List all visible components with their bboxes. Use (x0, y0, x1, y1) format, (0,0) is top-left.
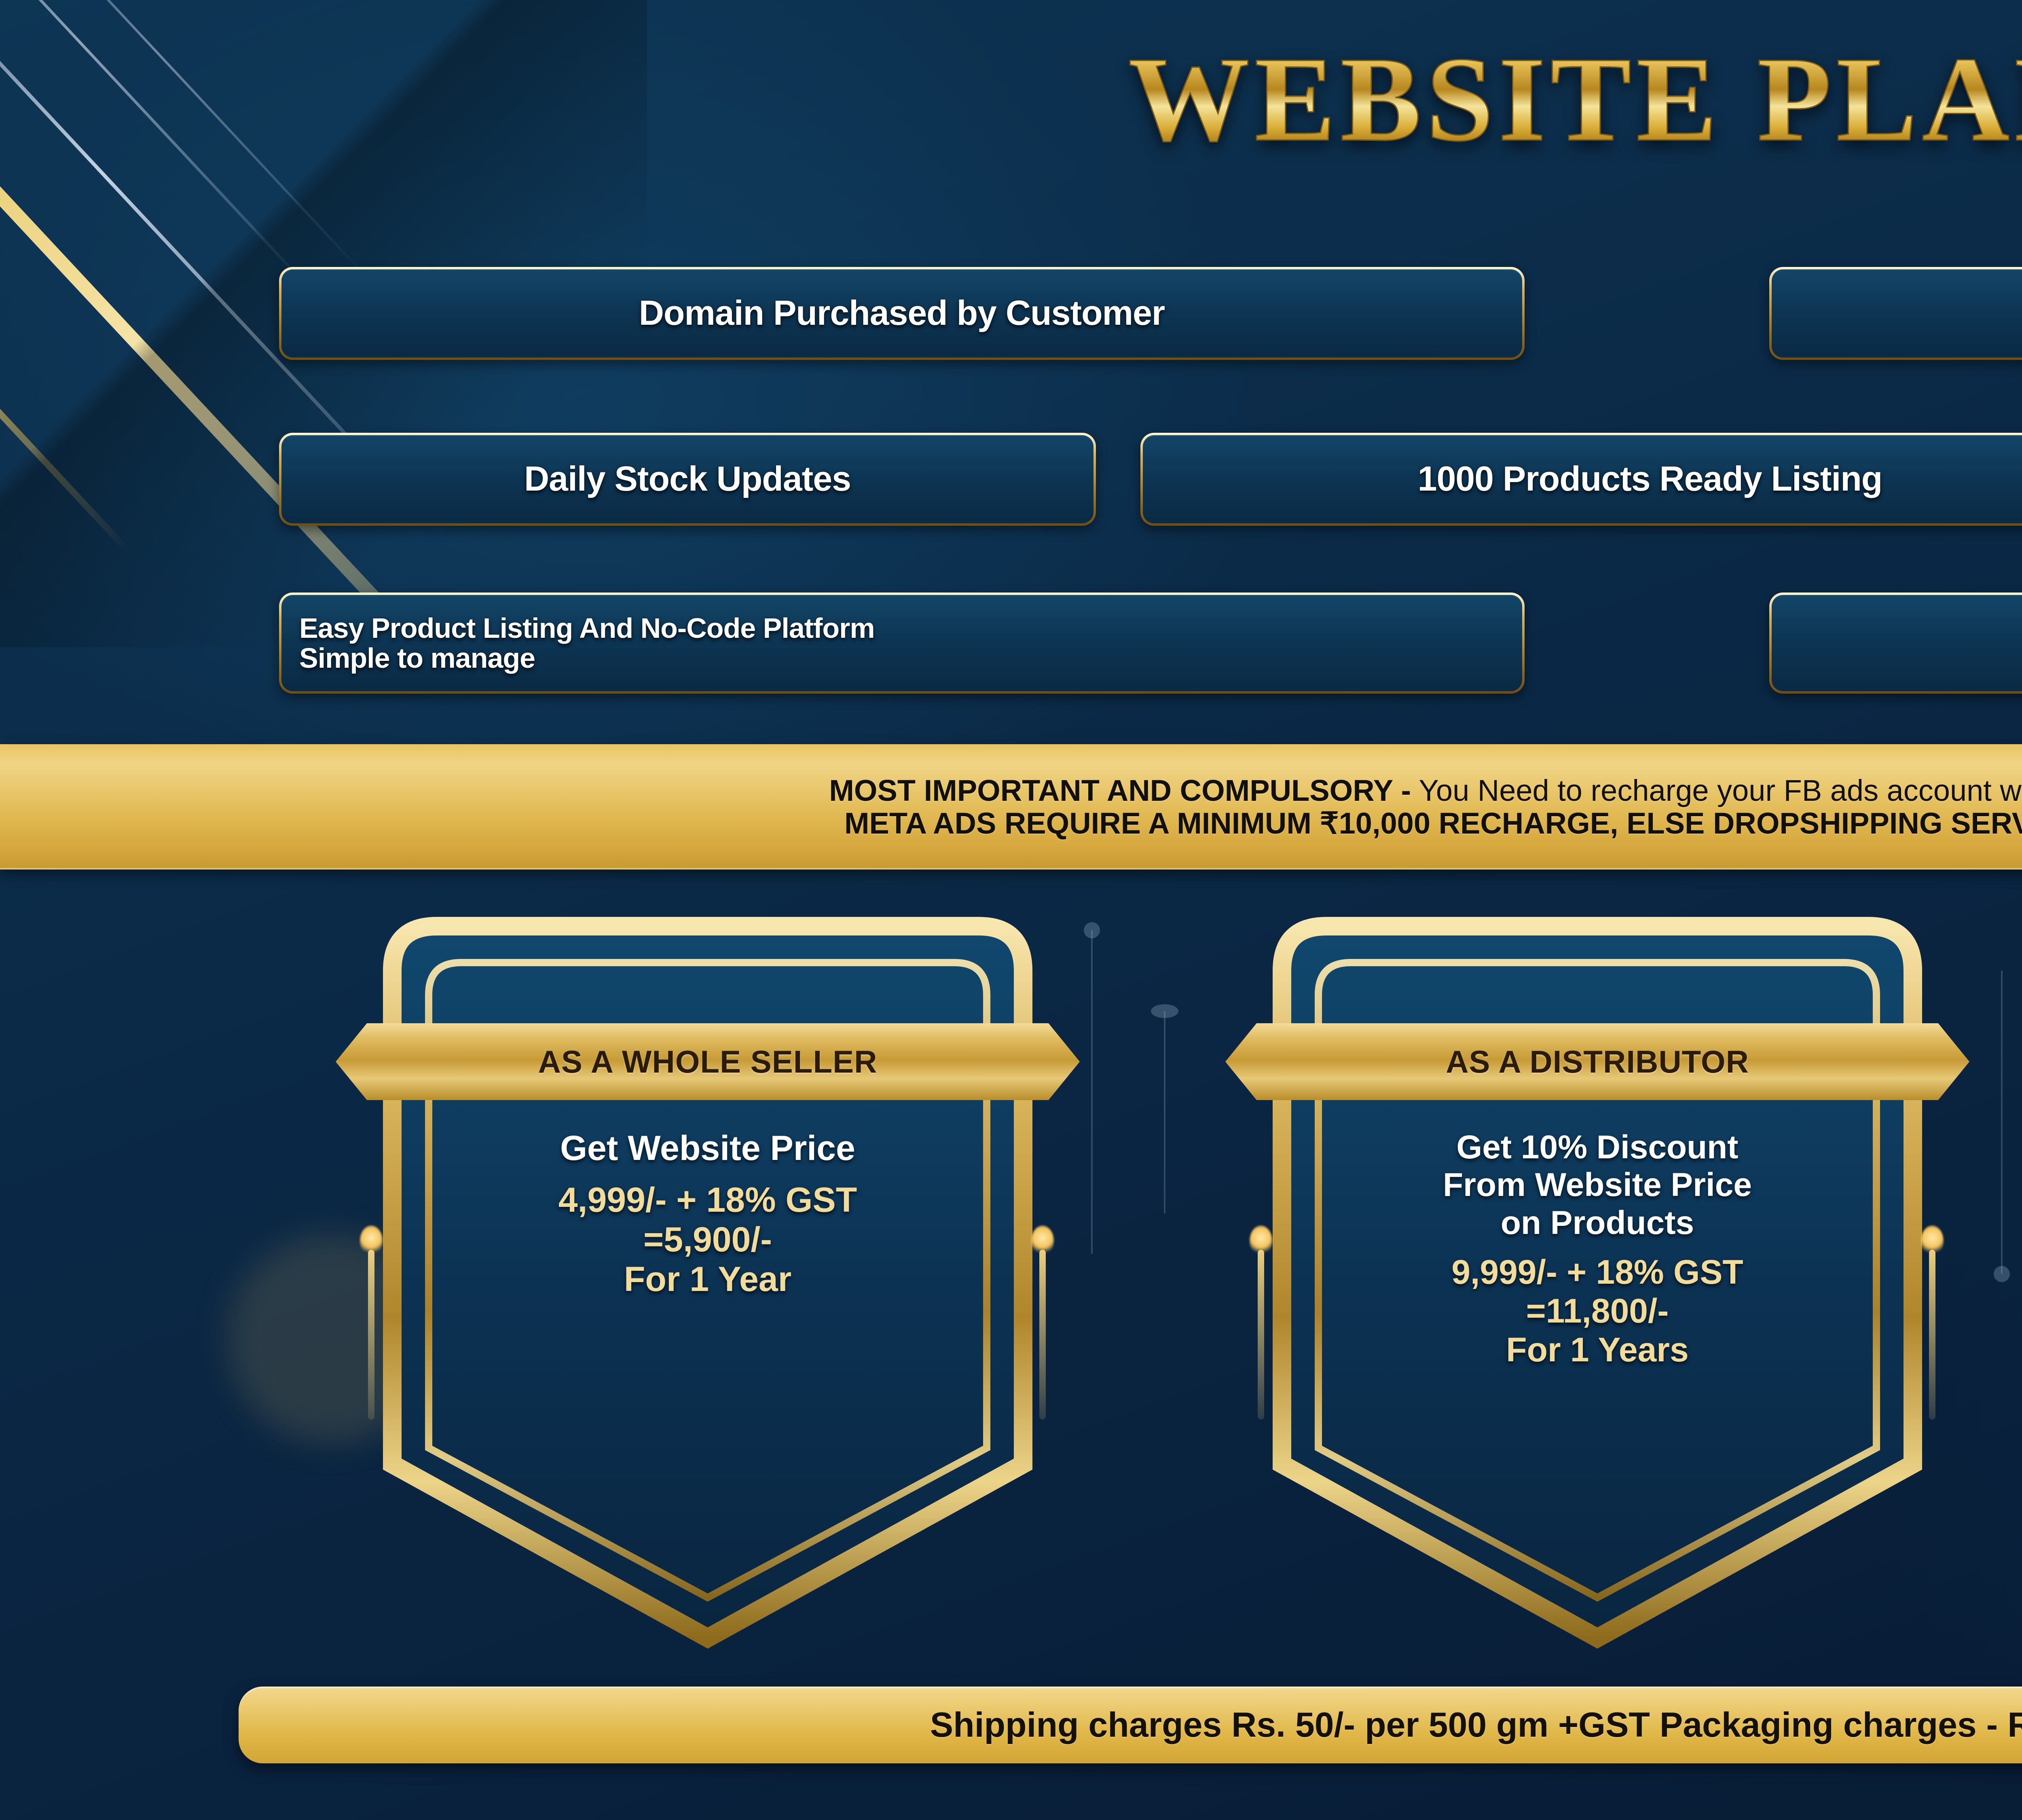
feature-pill-google-ads[interactable]: Google Ads & Meta Pixel Integration (1769, 593, 2022, 694)
plan-white-line: From Website Price (1443, 1166, 1752, 1204)
plan-ribbon: AS A DISTRIBUTOR (1225, 1023, 1969, 1100)
poster-canvas: WEBSITE PLAN Domain Purchased by Custome… (0, 0, 2022, 1820)
plan-white-line: Get Website Price (560, 1128, 855, 1168)
feature-label: Easy Product Listing And No-Code Platfor… (299, 613, 875, 643)
glow-pin-right (1929, 1250, 1935, 1420)
feature-label: Domain Purchased by Customer (639, 295, 1165, 332)
plan-gold-line: =11,800/- (1526, 1292, 1669, 1331)
shipping-charges-label: Shipping charges Rs. 50/- per 500 gm +GS… (930, 1705, 2022, 1745)
feature-pill-order-management[interactable]: Order Management Panel (1769, 267, 2022, 360)
glow-pin-right (1039, 1250, 1046, 1420)
feature-pill-1000-products[interactable]: 1000 Products Ready Listing (1140, 433, 2022, 526)
plan-gold-line: For 1 Years (1506, 1331, 1688, 1369)
glow-pin-left (368, 1250, 374, 1420)
diagonal-gold-stripe (0, 105, 131, 553)
feature-pill-daily-stock[interactable]: Daily Stock Updates (279, 433, 1096, 526)
plan-white-line: on Products (1501, 1204, 1694, 1242)
notice-bold-part: MOST IMPORTANT AND COMPULSORY - (829, 774, 1411, 807)
plan-white-line: Get 10% Discount (1456, 1128, 1738, 1166)
plan-ribbon-label: AS A WHOLE SELLER (538, 1043, 878, 1080)
feature-label: 1000 Products Ready Listing (1418, 461, 1882, 497)
plan-gold-line: 4,999/- + 18% GST (558, 1180, 857, 1220)
notice-rest-part: You Need to recharge your FB ads account… (1411, 774, 2022, 807)
plan-gold-line: =5,900/- (643, 1220, 772, 1259)
plan-ribbon-label: AS A DISTRIBUTOR (1446, 1043, 1749, 1080)
plan-body: Get 10% Discount From Website Price on P… (1278, 1128, 1917, 1369)
feature-pill-easy-listing[interactable]: Easy Product Listing And No-Code Platfor… (279, 593, 1525, 694)
plan-ribbon: AS A WHOLE SELLER (336, 1023, 1080, 1100)
compulsory-notice-banner: MOST IMPORTANT AND COMPULSORY - You Need… (0, 744, 2022, 870)
plan-card-whole-seller[interactable]: AS A WHOLE SELLER Get Website Price 4,99… (344, 902, 1072, 1662)
plan-gold-line: For 1 Year (624, 1259, 791, 1299)
shipping-charges-bar: Shipping charges Rs. 50/- per 500 gm +GS… (239, 1687, 2022, 1763)
page-title: WEBSITE PLAN (0, 38, 2022, 160)
notice-line-1: MOST IMPORTANT AND COMPULSORY - You Need… (829, 774, 2022, 807)
plan-gold-line: 9,999/- + 18% GST (1451, 1253, 1743, 1292)
plan-card-distributor[interactable]: AS A DISTRIBUTOR Get 10% Discount From W… (1233, 902, 1961, 1662)
feature-pill-domain[interactable]: Domain Purchased by Customer (279, 267, 1525, 360)
plan-body: Get Website Price 4,999/- + 18% GST =5,9… (392, 1128, 1023, 1299)
feature-label: Daily Stock Updates (524, 461, 851, 497)
glow-pin-left (1258, 1250, 1264, 1420)
notice-line-2: META ADS REQUIRE A MINIMUM ₹10,000 RECHA… (844, 807, 2022, 840)
feature-label-secondary: Simple to manage (299, 643, 535, 673)
